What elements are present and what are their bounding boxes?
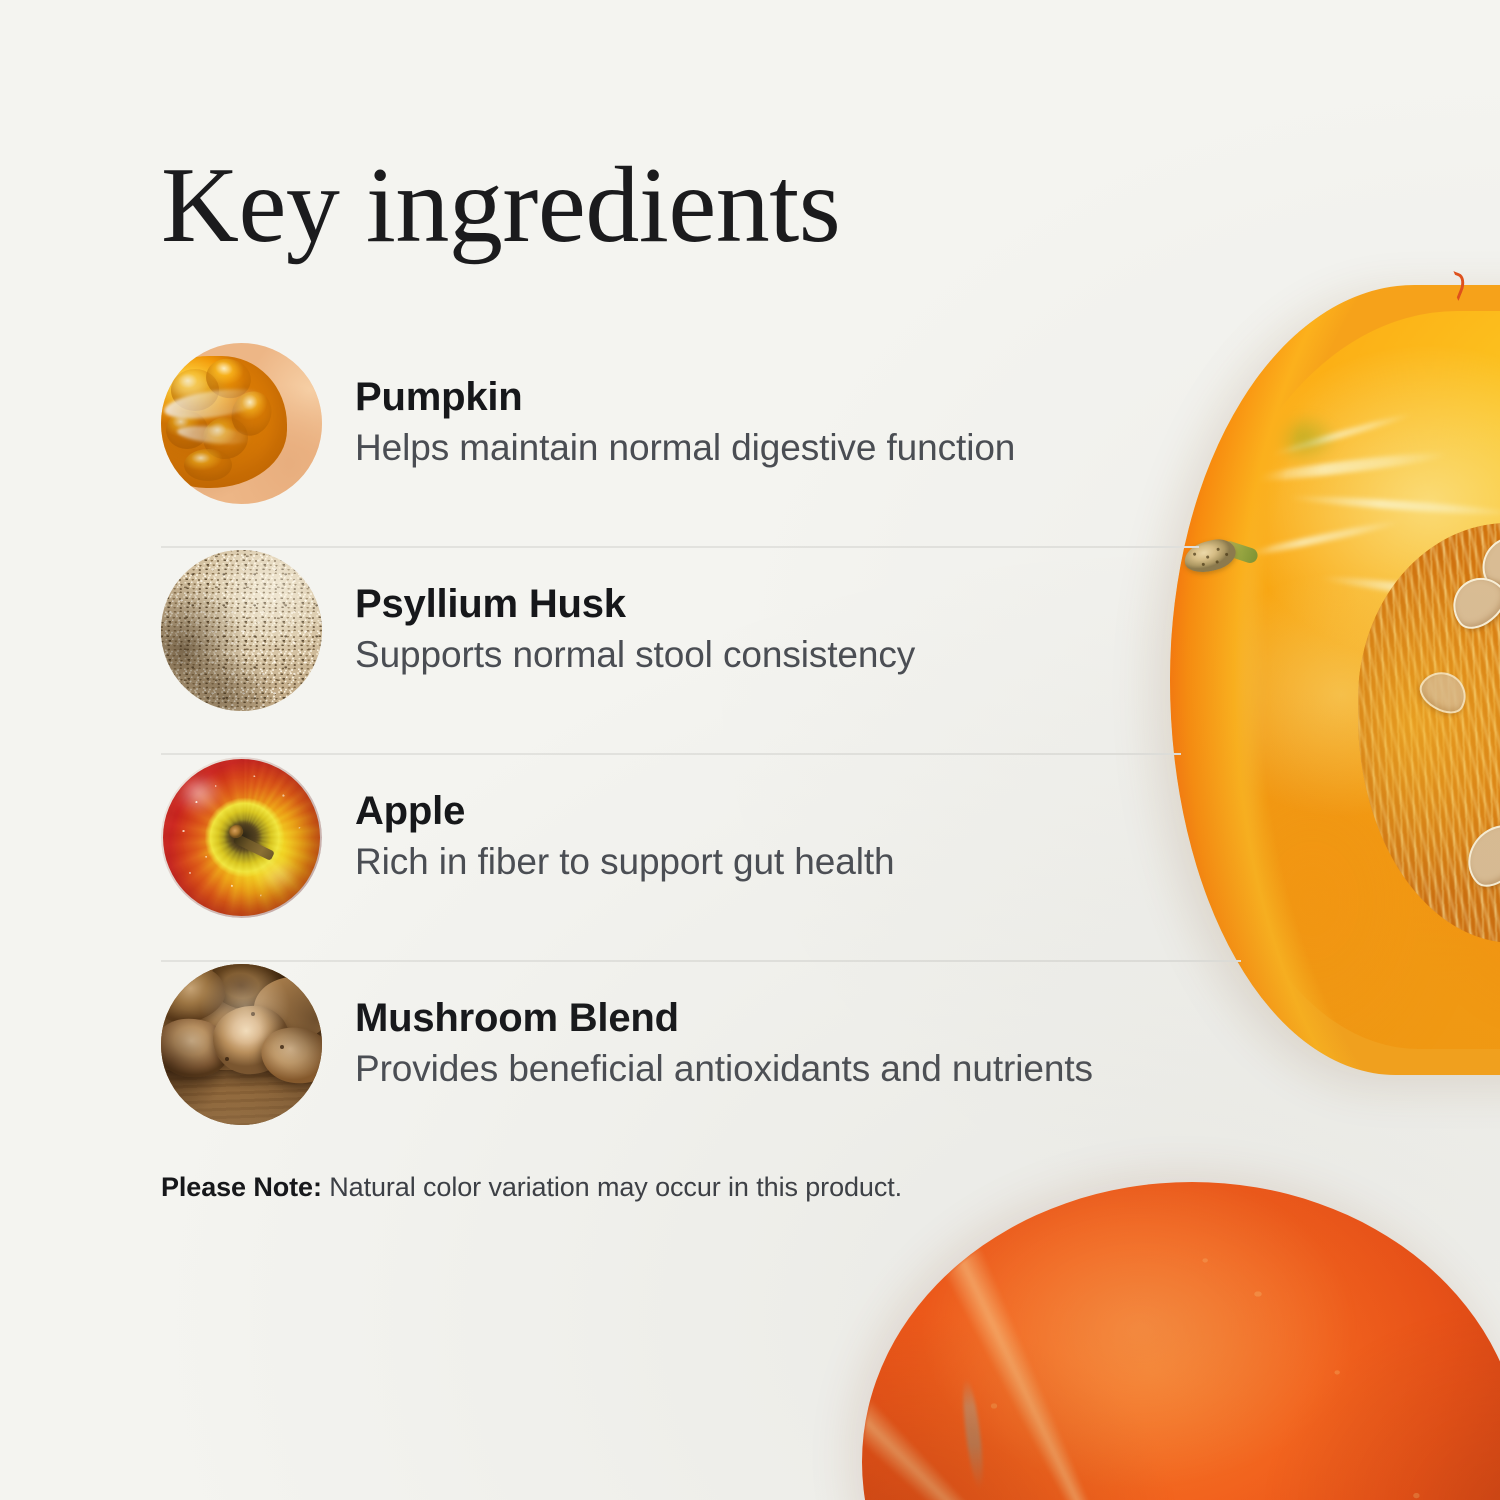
apple-thumbnail	[161, 757, 322, 918]
ingredient-name: Pumpkin	[355, 374, 1015, 420]
ingredient-description: Rich in fiber to support gut health	[355, 841, 895, 884]
psyllium-husk-thumbnail	[161, 550, 322, 711]
product-infographic: Key ingredients	[0, 0, 1500, 1500]
list-item: Mushroom Blend Provides beneficial antio…	[161, 962, 1261, 1169]
pumpkin-body	[862, 1182, 1500, 1500]
ingredient-name: Mushroom Blend	[355, 995, 1093, 1041]
mushroom-blend-thumbnail	[161, 964, 322, 1125]
list-item: Apple Rich in fiber to support gut healt…	[161, 755, 1261, 962]
ingredient-name: Psyllium Husk	[355, 581, 915, 627]
ingredient-name: Apple	[355, 788, 895, 834]
pumpkin-shading	[862, 1182, 1500, 1500]
ingredient-list: Pumpkin Helps maintain normal digestive …	[161, 341, 1261, 1169]
ingredient-description: Helps maintain normal digestive function	[355, 427, 1015, 470]
pumpkin-puree-thumbnail	[161, 343, 322, 504]
page-title: Key ingredients	[161, 152, 840, 260]
pumpkin-stem-star	[1109, 1482, 1309, 1500]
please-note-label: Please Note:	[161, 1172, 322, 1202]
list-item: Pumpkin Helps maintain normal digestive …	[161, 341, 1261, 548]
ingredient-description: Provides beneficial antioxidants and nut…	[355, 1048, 1093, 1091]
whole-pumpkin-photo	[862, 1182, 1500, 1500]
please-note-text: Please Note: Natural color variation may…	[161, 1172, 902, 1203]
list-item: Psyllium Husk Supports normal stool cons…	[161, 548, 1261, 755]
ingredient-description: Supports normal stool consistency	[355, 634, 915, 677]
please-note-body: Natural color variation may occur in thi…	[322, 1172, 902, 1202]
